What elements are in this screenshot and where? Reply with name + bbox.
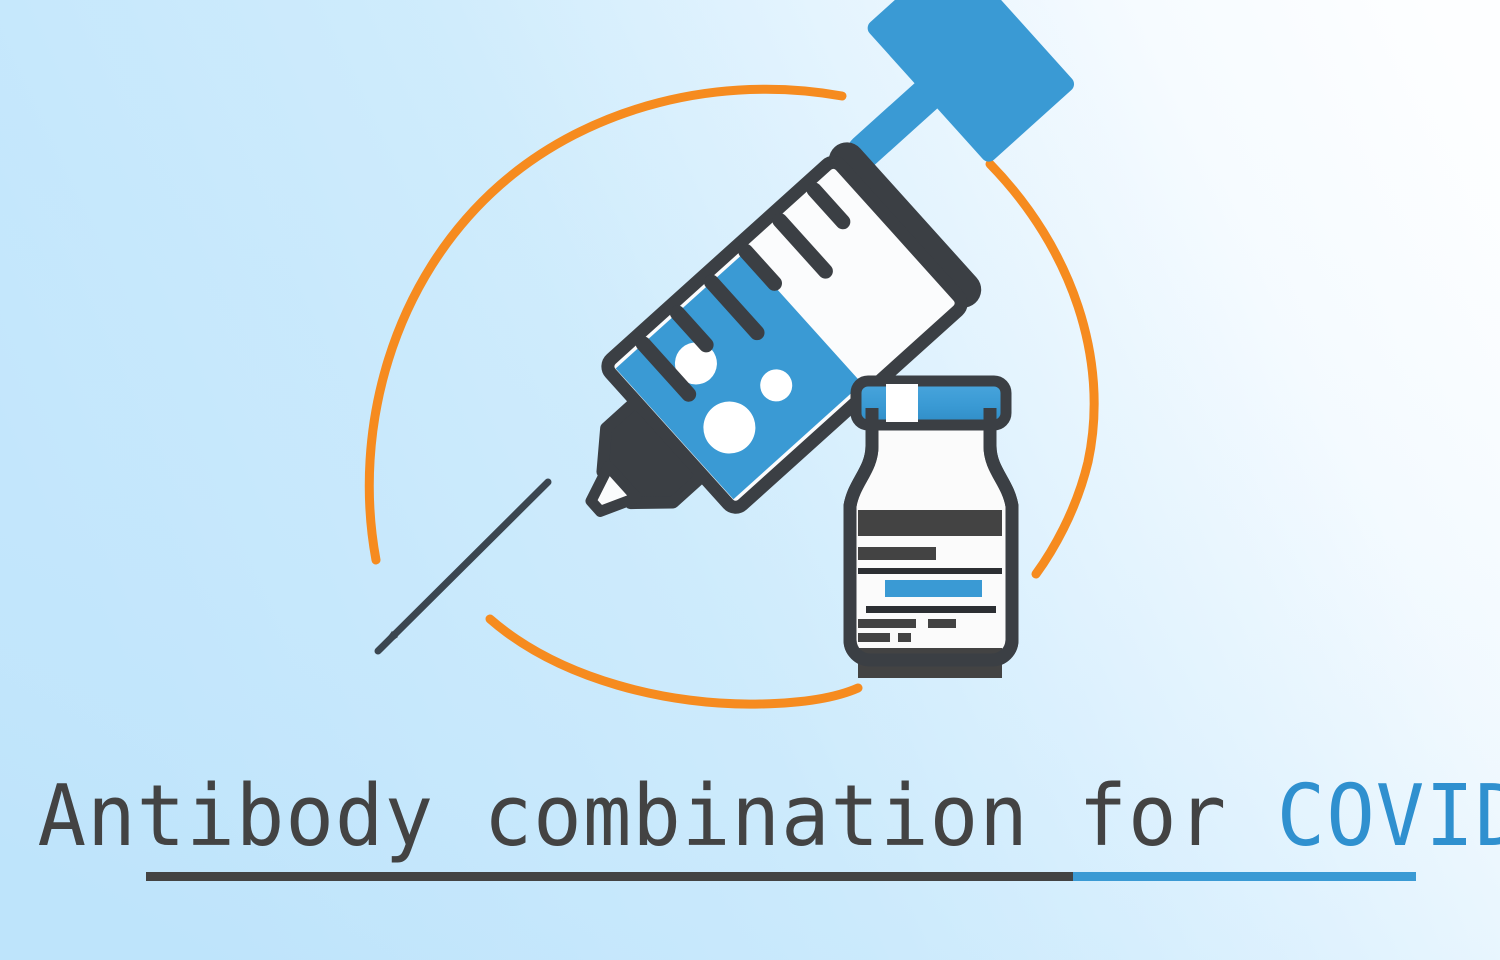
headline-underline-accent (1073, 872, 1416, 881)
headline-accent-text: COVID -19 (1277, 767, 1500, 866)
vaccine-vial-icon (850, 381, 1012, 678)
syringe-icon (378, 0, 1140, 651)
syringe-needle-icon (378, 482, 548, 651)
headline-main-text: Antibody combination for (38, 767, 1277, 866)
poster-canvas: Antibody combination for COVID -19 (0, 0, 1500, 960)
headline-underline-main (146, 872, 1073, 881)
arc-bottom-icon (490, 619, 858, 704)
